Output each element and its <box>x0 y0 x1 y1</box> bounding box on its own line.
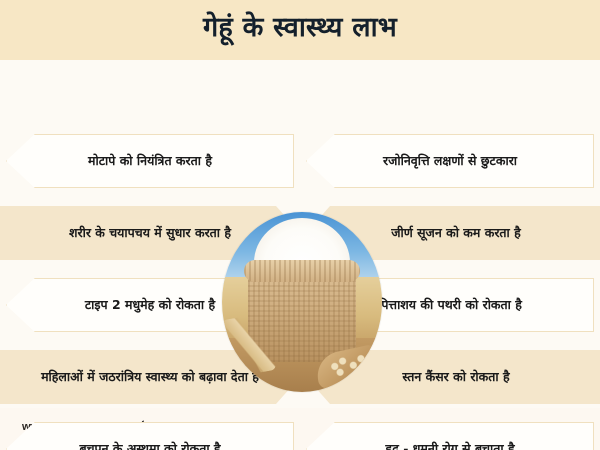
benefit-item-right-1: रजोनिवृत्ति लक्षणों से छुटकारा <box>306 134 594 188</box>
benefit-label: मोटापे को नियंत्रित करता है <box>68 153 232 169</box>
benefit-item-right-5: हृद - धमनी रोग से बचाता है <box>306 422 594 450</box>
benefit-label: बचपन के अस्थमा को रोकता है <box>59 441 240 450</box>
wheat-flour-sack-photo <box>222 212 382 392</box>
benefit-item-left-1: मोटापे को नियंत्रित करता है <box>6 134 294 188</box>
infographic-poster: गेहूं के स्वास्थ्य लाभ मोटापे को नियंत्र… <box>0 0 600 450</box>
wheat-stalks-icon <box>222 312 277 377</box>
benefit-label: हृद - धमनी रोग से बचाता है <box>365 441 534 450</box>
benefit-item-left-5: बचपन के अस्थमा को रोकता है <box>6 422 294 450</box>
benefit-label: रजोनिवृत्ति लक्षणों से छुटकारा <box>363 153 537 169</box>
burlap-sack-rim <box>244 260 360 282</box>
benefit-label: टाइप 2 मधुमेह को रोकता है <box>65 297 235 313</box>
benefit-label: स्तन कैंसर को रोकता है <box>382 369 529 385</box>
page-title: गेहूं के स्वास्थ्य लाभ <box>0 8 600 48</box>
benefit-label: शरीर के चयापचय में सुधार करता है <box>49 225 251 241</box>
benefit-label: जीर्ण सूजन को कम करता है <box>371 225 541 241</box>
benefits-area: मोटापे को नियंत्रित करता है शरीर के चयाप… <box>0 60 600 408</box>
benefit-label: पित्ताशय की पथरी को रोकता है <box>358 297 542 313</box>
header-banner: गेहूं के स्वास्थ्य लाभ <box>0 0 600 60</box>
